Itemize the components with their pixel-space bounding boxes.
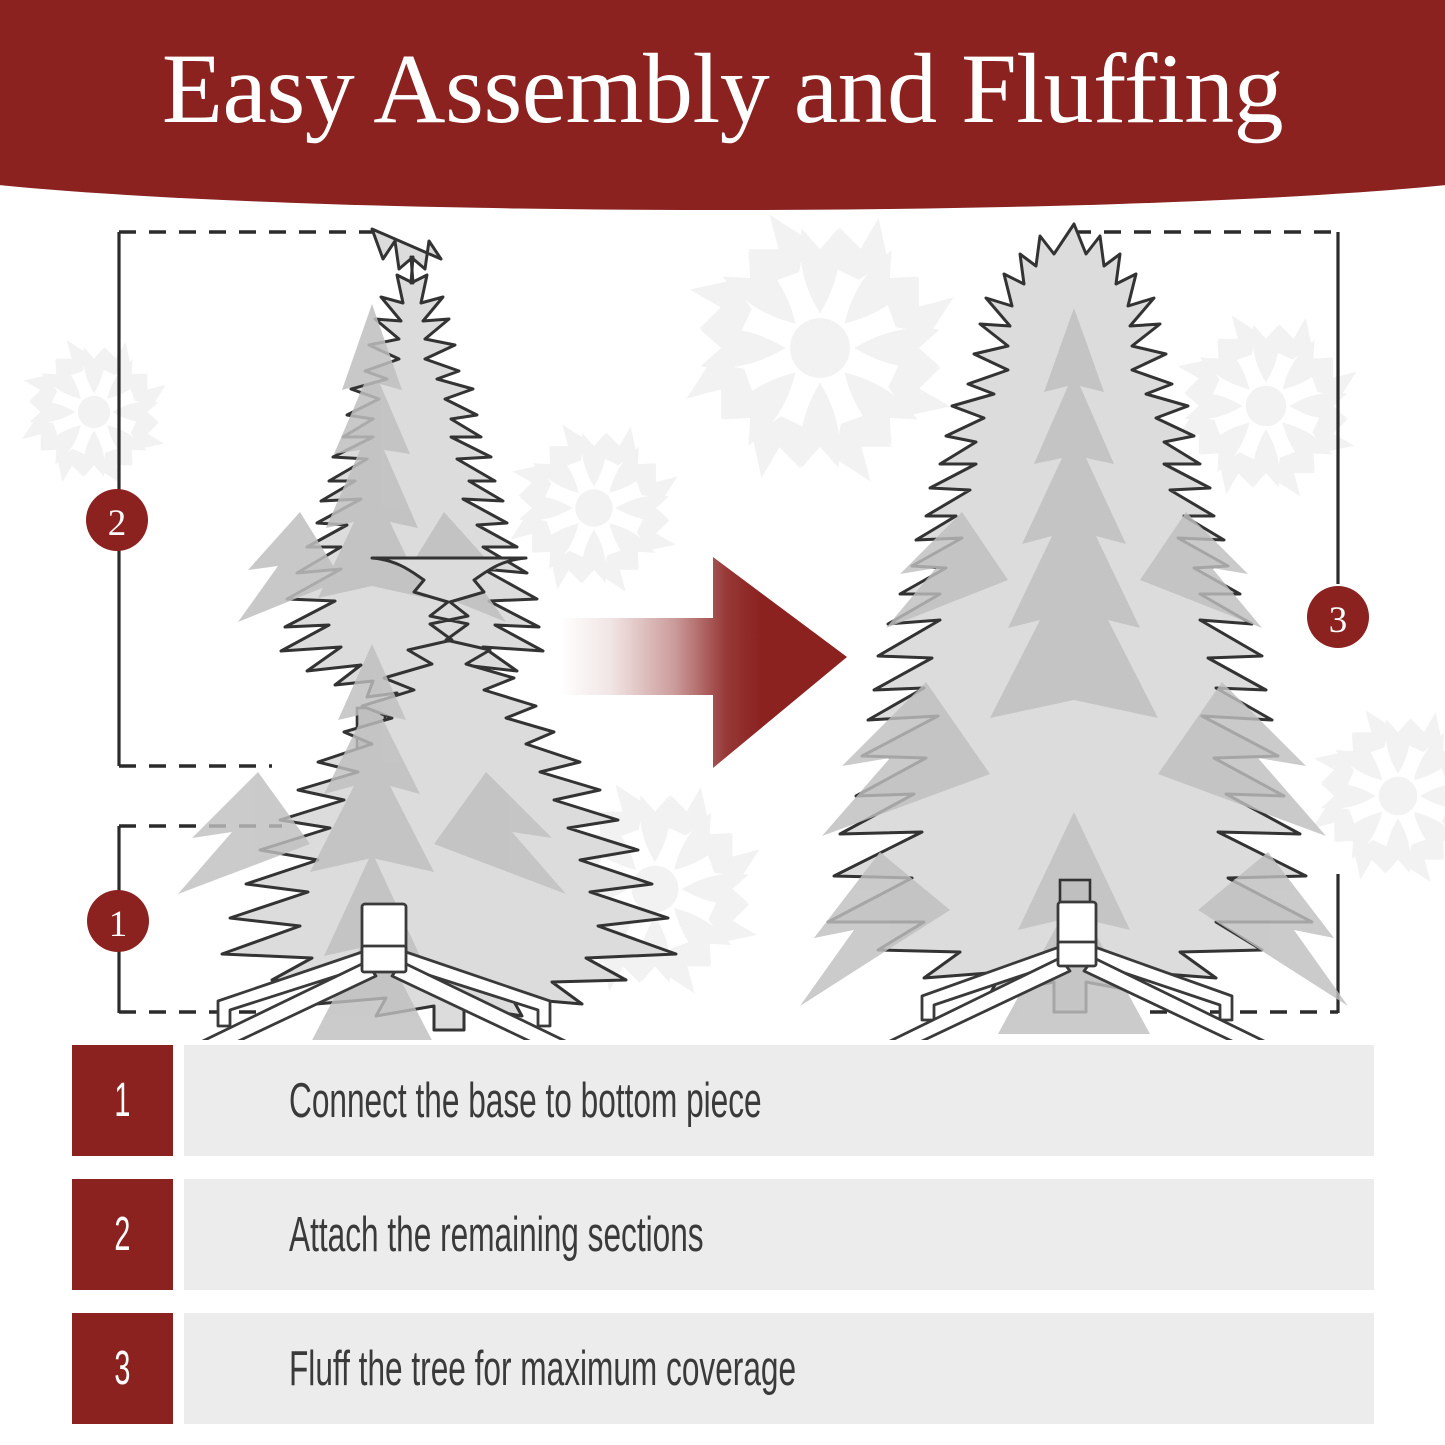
- stand-collar: [362, 946, 406, 972]
- step-label-1: Connect the base to bottom piece: [289, 1073, 762, 1129]
- marker-3-label: 3: [1329, 600, 1348, 641]
- step-row-2: 2 Attach the remaining sections: [72, 1179, 1374, 1290]
- header-banner: Easy Assembly and Fluffing: [0, 0, 1445, 212]
- snowflake-icon: [503, 417, 684, 598]
- step-row-3: 3 Fluff the tree for maximum coverage: [72, 1313, 1374, 1424]
- page-title: Easy Assembly and Fluffing: [0, 34, 1445, 144]
- marker-2-label: 2: [108, 503, 127, 544]
- step-text-bar-1: Connect the base to bottom piece: [184, 1045, 1374, 1156]
- step-number-badge-1: 1: [72, 1045, 173, 1156]
- step-number-1: 1: [114, 1073, 130, 1128]
- snowflake-icon: [16, 334, 172, 490]
- transform-arrow: [560, 557, 847, 768]
- step-number-badge-3: 3: [72, 1313, 173, 1424]
- marker-1-label: 1: [109, 904, 128, 945]
- marker-2: 2: [86, 489, 148, 551]
- step-list: 1 Connect the base to bottom piece 2 Att…: [0, 1040, 1445, 1445]
- step-number-3: 3: [114, 1341, 130, 1396]
- step-row-1: 1 Connect the base to bottom piece: [72, 1045, 1374, 1156]
- marker-3: 3: [1307, 586, 1369, 648]
- step-text-bar-2: Attach the remaining sections: [184, 1179, 1374, 1290]
- snowflake-icon: [675, 212, 964, 493]
- assembly-diagram: 2 1 3: [0, 212, 1445, 1040]
- step-number-badge-2: 2: [72, 1179, 173, 1290]
- step-number-2: 2: [114, 1207, 130, 1262]
- assembled-stand-collar: [1058, 942, 1096, 966]
- snowflake-icon: [1305, 703, 1445, 889]
- step-label-3: Fluff the tree for maximum coverage: [289, 1341, 796, 1397]
- step-text-bar-3: Fluff the tree for maximum coverage: [184, 1313, 1374, 1424]
- marker-1: 1: [87, 890, 149, 952]
- step-label-2: Attach the remaining sections: [289, 1207, 704, 1263]
- snowflake-icon: [1168, 308, 1364, 504]
